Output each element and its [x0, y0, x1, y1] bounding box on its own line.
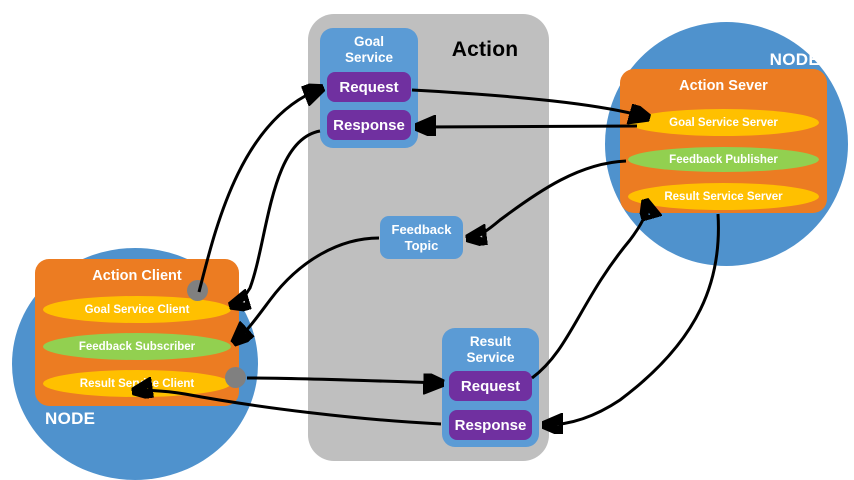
result-service-response-button[interactable]: Response	[449, 410, 532, 440]
goal-service-server-pill[interactable]: Goal Service Server	[628, 109, 819, 136]
arrow-result-request-to-server	[532, 203, 647, 378]
feedback-publisher-pill[interactable]: Feedback Publisher	[628, 147, 819, 172]
action-server-title: Action Sever	[620, 78, 827, 94]
action-label: Action	[430, 36, 540, 64]
goal-client-connector-dot	[187, 280, 208, 301]
feedback-topic-line2: Topic	[405, 238, 439, 253]
goal-service-client-pill[interactable]: Goal Service Client	[43, 296, 231, 323]
diagram-canvas: Action NODE Action Client Goal Service C…	[0, 0, 854, 480]
action-client-title: Action Client	[35, 268, 239, 284]
arrow-goal-response-to-client	[233, 131, 320, 305]
result-service-server-pill[interactable]: Result Service Server	[628, 183, 819, 210]
feedback-topic-label: Feedback Topic	[392, 222, 452, 254]
goal-service-title-line1: Goal	[354, 34, 384, 49]
result-service-client-pill[interactable]: Result Service Client	[43, 370, 231, 397]
result-service-title-line1: Result	[470, 334, 511, 349]
result-service-title-line2: Service	[466, 350, 514, 365]
goal-service-box: Goal Service Request Response	[320, 28, 418, 148]
goal-service-title-line2: Service	[345, 50, 393, 65]
feedback-topic-line1: Feedback	[392, 222, 452, 237]
client-node-label: NODE	[45, 409, 115, 431]
goal-service-response-button[interactable]: Response	[327, 110, 411, 140]
result-client-connector-dot	[225, 367, 246, 388]
goal-service-request-button[interactable]: Request	[327, 72, 411, 102]
result-service-box: Result Service Request Response	[442, 328, 539, 447]
goal-service-title: Goal Service	[320, 34, 418, 66]
result-service-title: Result Service	[442, 334, 539, 366]
result-service-request-button[interactable]: Request	[449, 371, 532, 401]
feedback-subscriber-pill[interactable]: Feedback Subscriber	[43, 333, 231, 360]
feedback-topic-box[interactable]: Feedback Topic	[380, 216, 463, 259]
action-server-box: Action Sever Goal Service Server Feedbac…	[620, 69, 827, 213]
action-client-box: Action Client Goal Service Client Feedba…	[35, 259, 239, 406]
